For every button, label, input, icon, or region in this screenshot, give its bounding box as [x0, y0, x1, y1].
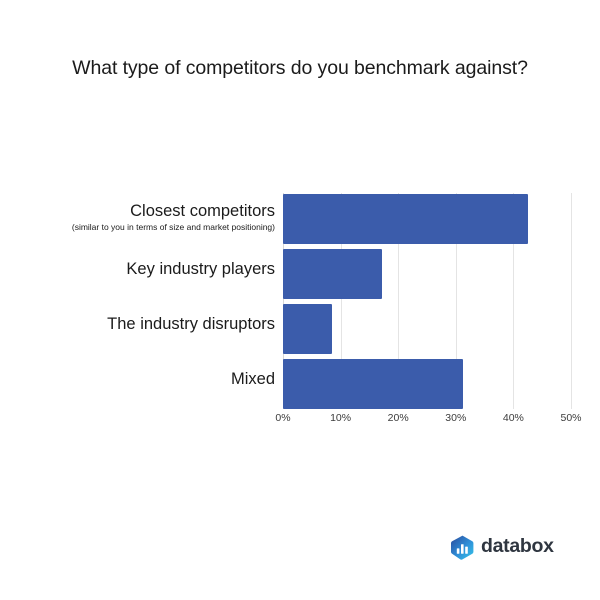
- gridline-50: [571, 193, 572, 409]
- y-axis-label-1-main: Key industry players: [30, 259, 275, 279]
- bar-closest-competitors[interactable]: [283, 194, 528, 244]
- y-axis-label-0-main: Closest competitors: [30, 201, 275, 221]
- databox-logo: databox: [451, 534, 554, 560]
- y-axis-label-1: Key industry players: [30, 259, 275, 279]
- x-tick-label-0: 0%: [275, 412, 290, 424]
- y-axis-label-2-main: The industry disruptors: [30, 314, 275, 334]
- bar-series: [283, 193, 571, 409]
- y-axis-label-3-main: Mixed: [30, 369, 275, 389]
- bar-mixed[interactable]: [283, 359, 463, 409]
- x-axis-tick-labels: 0% 10% 20% 30% 40% 50%: [283, 412, 571, 430]
- chart-title: What type of competitors do you benchmar…: [0, 57, 600, 80]
- bar-key-industry-players[interactable]: [283, 249, 382, 299]
- bar-slot-3: [283, 359, 463, 409]
- x-tick-label-30: 30%: [445, 412, 466, 424]
- y-axis-label-0: Closest competitors (similar to you in t…: [30, 201, 275, 233]
- y-axis-label-2: The industry disruptors: [30, 314, 275, 334]
- bar-slot-2: [283, 304, 332, 354]
- y-axis-label-3: Mixed: [30, 369, 275, 389]
- chart-card: What type of competitors do you benchmar…: [0, 0, 600, 600]
- x-tick-label-10: 10%: [330, 412, 351, 424]
- y-axis-category-labels: Closest competitors (similar to you in t…: [30, 193, 275, 409]
- x-tick-label-20: 20%: [388, 412, 409, 424]
- y-axis-label-0-sub: (similar to you in terms of size and mar…: [30, 221, 275, 233]
- databox-logo-text: databox: [481, 537, 554, 557]
- bar-slot-0: [283, 194, 528, 244]
- x-tick-label-40: 40%: [503, 412, 524, 424]
- x-tick-label-50: 50%: [560, 412, 581, 424]
- bar-slot-1: [283, 249, 382, 299]
- hexagon-bar-chart-icon: [451, 535, 474, 560]
- plot-area: [283, 193, 571, 409]
- bar-the-industry-disruptors[interactable]: [283, 304, 332, 354]
